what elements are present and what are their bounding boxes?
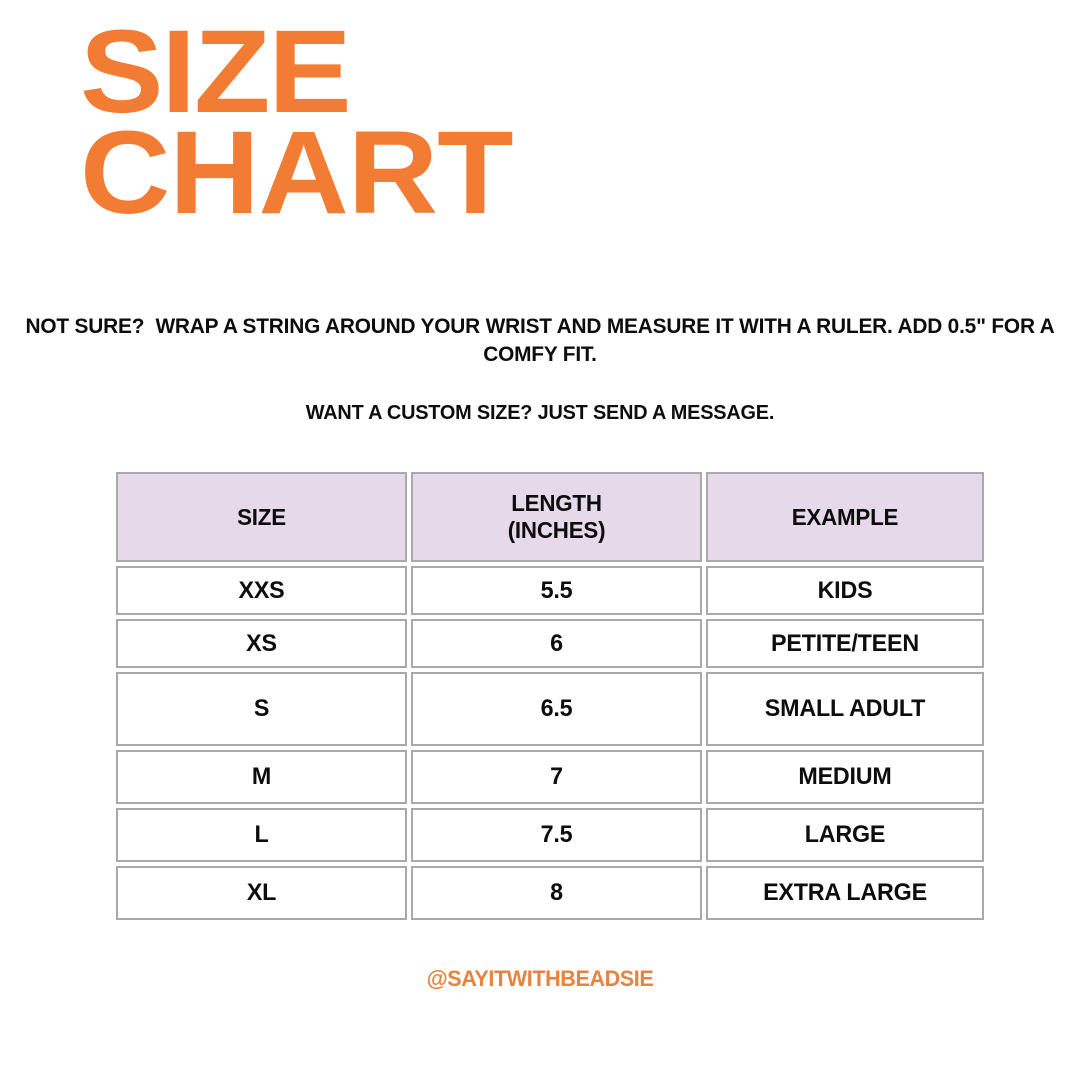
size-chart-table: SIZE LENGTH (INCHES) EXAMPLE XXS 5.5 KID… <box>112 468 988 924</box>
cell-length-value: 8 <box>417 879 695 907</box>
cell-length-value: 5.5 <box>417 577 695 605</box>
cell-size-value: XL <box>122 879 400 907</box>
cell-example-value: SMALL ADULT <box>712 695 978 723</box>
cell-length: 7.5 <box>411 808 702 862</box>
intro-paragraph-measuring: NOT SURE? WRAP A STRING AROUND YOUR WRIS… <box>16 313 1064 369</box>
cell-size: S <box>116 672 407 746</box>
table-header-row: SIZE LENGTH (INCHES) EXAMPLE <box>116 472 984 562</box>
cell-length-value: 6.5 <box>417 695 695 723</box>
table-body: XXS 5.5 KIDS XS 6 PETITE/TEEN S 6.5 SMAL… <box>116 566 984 920</box>
column-header-length-label: LENGTH <box>417 490 695 517</box>
cell-size: XL <box>116 866 407 920</box>
instagram-handle: @SAYITWITHBEADSIE <box>11 966 1069 992</box>
cell-example: LARGE <box>706 808 984 862</box>
column-header-example: EXAMPLE <box>706 472 984 562</box>
cell-example-value: LARGE <box>712 821 978 849</box>
table-row: M 7 MEDIUM <box>116 750 984 804</box>
cell-size-value: XS <box>122 630 400 658</box>
cell-example: EXTRA LARGE <box>706 866 984 920</box>
column-header-example-label: EXAMPLE <box>712 504 978 531</box>
table-row: L 7.5 LARGE <box>116 808 984 862</box>
table-row: S 6.5 SMALL ADULT <box>116 672 984 746</box>
cell-length: 7 <box>411 750 702 804</box>
cell-example-value: PETITE/TEEN <box>712 630 978 658</box>
page-title-line-2: CHART <box>80 123 716 224</box>
cell-example-value: EXTRA LARGE <box>712 879 978 907</box>
cell-example: SMALL ADULT <box>706 672 984 746</box>
column-header-size-label: SIZE <box>122 504 400 531</box>
cell-size-value: XXS <box>122 577 400 605</box>
column-header-length-units: (INCHES) <box>417 517 695 544</box>
page-title: SIZE CHART <box>80 22 680 225</box>
cell-example: KIDS <box>706 566 984 615</box>
column-header-length: LENGTH (INCHES) <box>411 472 702 562</box>
cell-size: XXS <box>116 566 407 615</box>
cell-size-value: L <box>122 821 400 849</box>
cell-length-value: 7 <box>417 763 695 791</box>
cell-length-value: 6 <box>417 630 695 658</box>
cell-example-value: MEDIUM <box>712 763 978 791</box>
cell-example: MEDIUM <box>706 750 984 804</box>
column-header-size: SIZE <box>116 472 407 562</box>
table-row: XS 6 PETITE/TEEN <box>116 619 984 668</box>
table-header: SIZE LENGTH (INCHES) EXAMPLE <box>116 472 984 562</box>
cell-example: PETITE/TEEN <box>706 619 984 668</box>
cell-length-value: 7.5 <box>417 821 695 849</box>
cell-length: 8 <box>411 866 702 920</box>
table-row: XL 8 EXTRA LARGE <box>116 866 984 920</box>
intro-paragraph-custom-size: WANT A CUSTOM SIZE? JUST SEND A MESSAGE. <box>16 400 1064 427</box>
cell-length: 5.5 <box>411 566 702 615</box>
cell-length: 6.5 <box>411 672 702 746</box>
cell-size: M <box>116 750 407 804</box>
cell-size-value: S <box>122 695 400 723</box>
cell-example-value: KIDS <box>712 577 978 605</box>
cell-size: XS <box>116 619 407 668</box>
table-row: XXS 5.5 KIDS <box>116 566 984 615</box>
cell-length: 6 <box>411 619 702 668</box>
cell-size-value: M <box>122 763 400 791</box>
size-chart-page: SIZE CHART NOT SURE? WRAP A STRING AROUN… <box>0 0 1080 1080</box>
cell-size: L <box>116 808 407 862</box>
